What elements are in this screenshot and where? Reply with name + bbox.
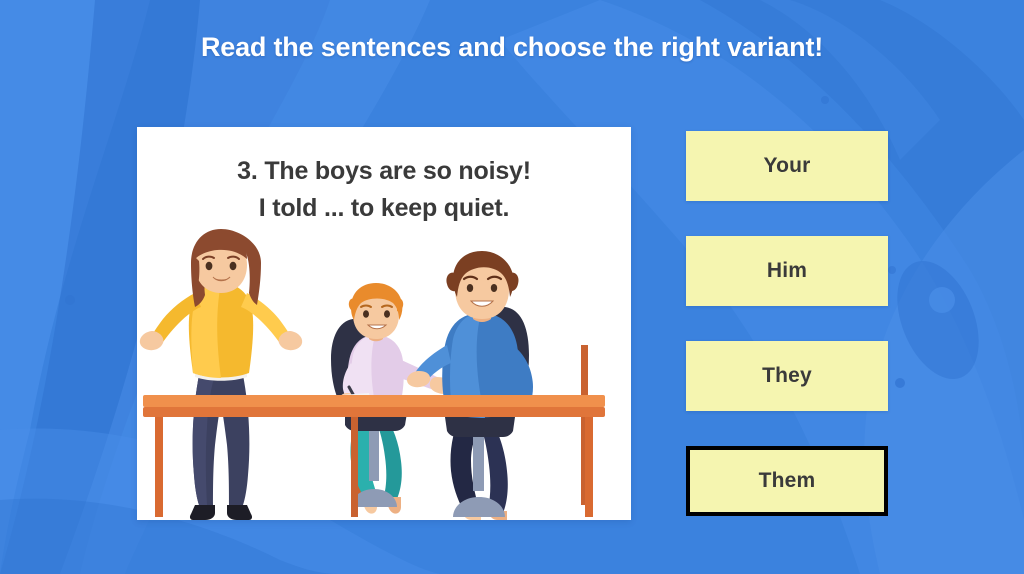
question-card: 3. The boys are so noisy! I told ... to … bbox=[137, 127, 631, 520]
sentence-line-1: 3. The boys are so noisy! bbox=[137, 153, 631, 190]
option-button-3[interactable]: They bbox=[686, 341, 888, 411]
woman-figure bbox=[140, 229, 302, 520]
slide-root: Read the sentences and choose the right … bbox=[0, 0, 1024, 574]
answer-options-list: Your Him They Them bbox=[686, 131, 888, 551]
option-label-3: They bbox=[762, 364, 812, 388]
option-label-1: Your bbox=[763, 154, 810, 178]
option-label-2: Him bbox=[767, 259, 807, 283]
option-button-1[interactable]: Your bbox=[686, 131, 888, 201]
option-button-4[interactable]: Them bbox=[686, 446, 888, 516]
option-button-2[interactable]: Him bbox=[686, 236, 888, 306]
sentence-text: 3. The boys are so noisy! I told ... to … bbox=[137, 153, 631, 227]
sentence-line-2: I told ... to keep quiet. bbox=[137, 190, 631, 227]
option-label-4: Them bbox=[759, 469, 816, 493]
page-title: Read the sentences and choose the right … bbox=[0, 32, 1024, 63]
classroom-illustration bbox=[137, 227, 631, 520]
